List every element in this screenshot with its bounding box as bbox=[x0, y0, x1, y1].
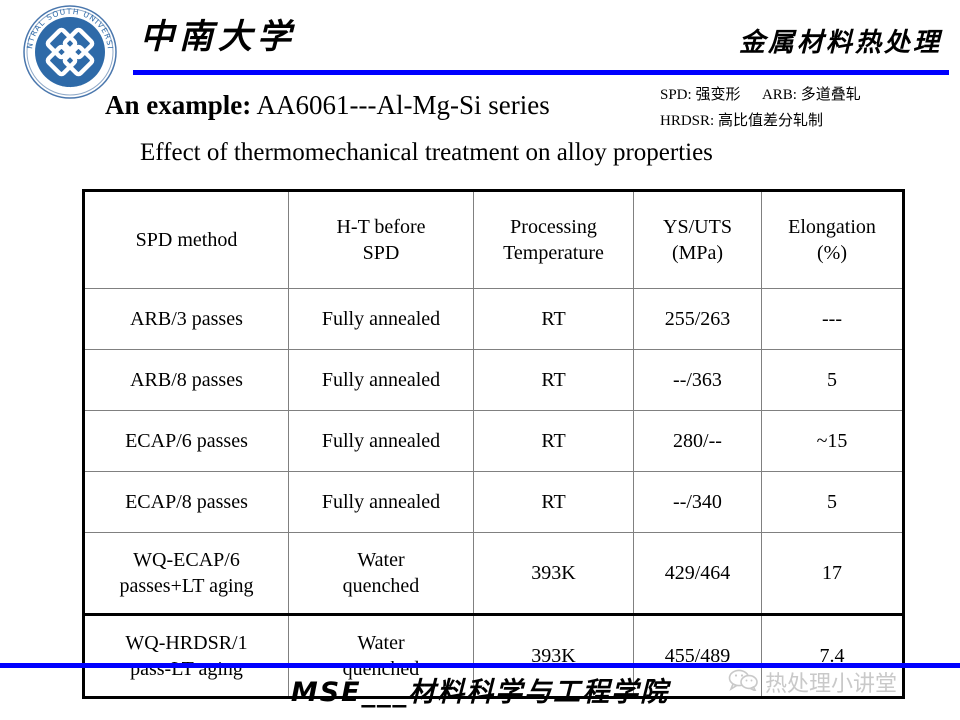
table-row: ARB/3 passes Fully annealed RT 255/263 -… bbox=[84, 289, 904, 350]
cell-line: 255/263 bbox=[637, 306, 758, 332]
cell-line: ARB/8 passes bbox=[88, 367, 285, 393]
cell-line: WQ-HRDSR/1 bbox=[88, 630, 285, 656]
cell-line: RT bbox=[477, 428, 630, 454]
cell-elongation: 17 bbox=[762, 533, 904, 615]
header-line: (MPa) bbox=[637, 240, 758, 266]
cell-line: quenched bbox=[292, 573, 470, 599]
column-header-ht-before-spd: H-T before SPD bbox=[289, 191, 474, 289]
cell-elongation: 5 bbox=[762, 350, 904, 411]
cell-line: Water bbox=[292, 547, 470, 573]
central-south-university-seal-icon: CENTRAL SOUTH UNIVERSITY 中南大学 bbox=[22, 4, 118, 100]
header-line: Elongation bbox=[765, 214, 899, 240]
abbr-meaning-spd: 强变形 bbox=[695, 85, 740, 103]
cell-line: Fully annealed bbox=[292, 306, 470, 332]
cell-ht-before-spd: Fully annealed bbox=[289, 350, 474, 411]
header-line: Processing bbox=[477, 214, 630, 240]
cell-ht-before-spd: Water quenched bbox=[289, 533, 474, 615]
slide-canvas: CENTRAL SOUTH UNIVERSITY 中南大学 中南大学 金属材料热… bbox=[0, 0, 960, 720]
wechat-icon bbox=[728, 669, 758, 696]
cell-line: passes+LT aging bbox=[88, 573, 285, 599]
cell-line: 393K bbox=[477, 560, 630, 586]
table-row: ECAP/6 passes Fully annealed RT 280/-- ~… bbox=[84, 411, 904, 472]
cell-processing-temperature: 393K bbox=[474, 533, 634, 615]
cell-ht-before-spd: Fully annealed bbox=[289, 289, 474, 350]
cell-line: 17 bbox=[765, 560, 899, 586]
abbr-term-arb: ARB: bbox=[762, 87, 797, 103]
cell-processing-temperature: RT bbox=[474, 472, 634, 533]
table-row: ECAP/8 passes Fully annealed RT --/340 5 bbox=[84, 472, 904, 533]
cell-spd-method: WQ-ECAP/6 passes+LT aging bbox=[84, 533, 289, 615]
cell-elongation: ~15 bbox=[762, 411, 904, 472]
header-line: YS/UTS bbox=[637, 214, 758, 240]
page-title-rest: AA6061---Al-Mg-Si series bbox=[251, 90, 549, 120]
abbr-term-hrdsr: HRDSR: bbox=[660, 113, 714, 129]
cell-line: 5 bbox=[765, 489, 899, 515]
column-header-ys-uts: YS/UTS (MPa) bbox=[634, 191, 762, 289]
cell-line: RT bbox=[477, 489, 630, 515]
cell-ys-uts: --/363 bbox=[634, 350, 762, 411]
cell-line: ECAP/6 passes bbox=[88, 428, 285, 454]
cell-line: RT bbox=[477, 306, 630, 332]
cell-spd-method: ECAP/6 passes bbox=[84, 411, 289, 472]
cell-spd-method: ARB/8 passes bbox=[84, 350, 289, 411]
table-header-row: SPD method H-T before SPD Processing Tem… bbox=[84, 191, 904, 289]
column-header-elongation: Elongation (%) bbox=[762, 191, 904, 289]
cell-line: 280/-- bbox=[637, 428, 758, 454]
header-line: SPD method bbox=[88, 227, 285, 253]
cell-line: ARB/3 passes bbox=[88, 306, 285, 332]
cell-line: WQ-ECAP/6 bbox=[88, 547, 285, 573]
abbr-meaning-arb: 多道叠轧 bbox=[801, 85, 861, 103]
cell-line: --/340 bbox=[637, 489, 758, 515]
cell-line: Fully annealed bbox=[292, 367, 470, 393]
cell-line: 429/464 bbox=[637, 560, 758, 586]
cell-line: Fully annealed bbox=[292, 489, 470, 515]
wechat-watermark: 热处理小讲堂 bbox=[728, 666, 897, 698]
cell-processing-temperature: RT bbox=[474, 411, 634, 472]
abbr-term-spd: SPD: bbox=[660, 87, 692, 103]
cell-line: Water bbox=[292, 630, 470, 656]
header-line: SPD bbox=[292, 240, 470, 266]
header-line: (%) bbox=[765, 240, 899, 266]
cell-line: RT bbox=[477, 367, 630, 393]
cell-line: --/363 bbox=[637, 367, 758, 393]
header-line: H-T before bbox=[292, 214, 470, 240]
abbr-meaning-hrdsr: 高比值差分轧制 bbox=[718, 111, 823, 129]
course-title-cn: 金属材料热处理 bbox=[739, 26, 942, 60]
cell-line: 5 bbox=[765, 367, 899, 393]
cell-ys-uts: --/340 bbox=[634, 472, 762, 533]
page-subtitle: Effect of thermomechanical treatment on … bbox=[140, 137, 713, 169]
university-name-cn: 中南大学 bbox=[140, 14, 296, 60]
table-row: ARB/8 passes Fully annealed RT --/363 5 bbox=[84, 350, 904, 411]
alloy-properties-table: SPD method H-T before SPD Processing Tem… bbox=[82, 189, 905, 699]
cell-spd-method: ECAP/8 passes bbox=[84, 472, 289, 533]
header-line: Temperature bbox=[477, 240, 630, 266]
cell-ht-before-spd: Fully annealed bbox=[289, 472, 474, 533]
page-title-lead: An example: bbox=[105, 90, 251, 120]
header-divider bbox=[133, 70, 949, 75]
table-row: WQ-ECAP/6 passes+LT aging Water quenched… bbox=[84, 533, 904, 615]
cell-processing-temperature: RT bbox=[474, 289, 634, 350]
abbreviation-note-1: SPD: 强变形 ARB: 多道叠轧 bbox=[660, 82, 861, 108]
cell-ht-before-spd: Fully annealed bbox=[289, 411, 474, 472]
abbreviation-notes: SPD: 强变形 ARB: 多道叠轧 HRDSR: 高比值差分轧制 bbox=[660, 82, 861, 134]
cell-ys-uts: 429/464 bbox=[634, 533, 762, 615]
column-header-spd-method: SPD method bbox=[84, 191, 289, 289]
cell-line: ~15 bbox=[765, 428, 899, 454]
cell-processing-temperature: RT bbox=[474, 350, 634, 411]
cell-spd-method: ARB/3 passes bbox=[84, 289, 289, 350]
cell-line: Fully annealed bbox=[292, 428, 470, 454]
cell-line: ECAP/8 passes bbox=[88, 489, 285, 515]
wechat-watermark-label: 热处理小讲堂 bbox=[765, 666, 897, 698]
cell-elongation: 5 bbox=[762, 472, 904, 533]
abbreviation-note-2: HRDSR: 高比值差分轧制 bbox=[660, 108, 861, 134]
page-title: An example: AA6061---Al-Mg-Si series bbox=[105, 88, 550, 122]
cell-line: --- bbox=[765, 306, 899, 332]
cell-elongation: --- bbox=[762, 289, 904, 350]
cell-ys-uts: 255/263 bbox=[634, 289, 762, 350]
column-header-processing-temperature: Processing Temperature bbox=[474, 191, 634, 289]
cell-ys-uts: 280/-- bbox=[634, 411, 762, 472]
